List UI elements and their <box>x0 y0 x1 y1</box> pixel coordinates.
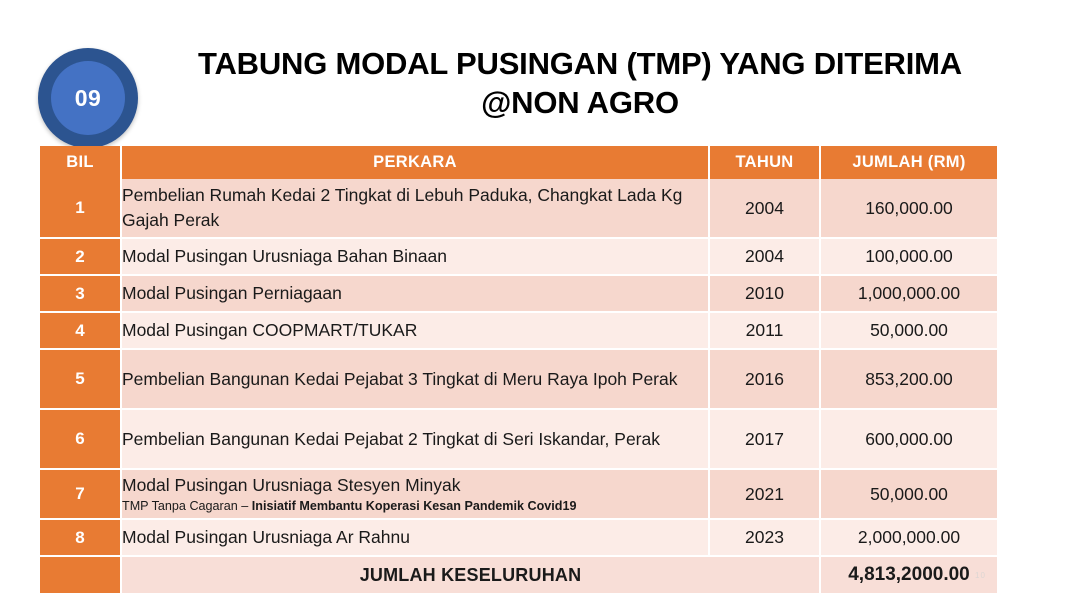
table-body: 1Pembelian Rumah Kedai 2 Tingkat di Lebu… <box>40 179 997 595</box>
perkara-text: Modal Pusingan Urusniaga Stesyen Minyak <box>122 475 461 495</box>
page-number-mark: 10 <box>975 571 986 580</box>
column-header-jumlah: JUMLAH (RM) <box>821 146 997 179</box>
perkara-text: Modal Pusingan Urusniaga Ar Rahnu <box>122 527 410 547</box>
table-row: 1Pembelian Rumah Kedai 2 Tingkat di Lebu… <box>40 179 997 239</box>
cell-bil: 8 <box>40 520 122 557</box>
column-header-tahun: TAHUN <box>710 146 821 179</box>
cell-jumlah: 853,200.00 <box>821 350 997 410</box>
perkara-subnote-bold: Inisiatif Membantu Koperasi Kesan Pandem… <box>252 499 577 513</box>
perkara-text: Modal Pusingan Perniagaan <box>122 283 342 303</box>
cell-bil: 6 <box>40 410 122 470</box>
cell-tahun: 2010 <box>710 276 821 313</box>
slide-header: 09 TABUNG MODAL PUSINGAN (TMP) YANG DITE… <box>0 0 1070 145</box>
table-header: BIL PERKARA TAHUN JUMLAH (RM) <box>40 146 997 179</box>
page-title: TABUNG MODAL PUSINGAN (TMP) YANG DITERIM… <box>160 44 1000 122</box>
cell-tahun: 2004 <box>710 239 821 276</box>
perkara-text: Pembelian Bangunan Kedai Pejabat 3 Tingk… <box>122 369 678 389</box>
cell-tahun: 2017 <box>710 410 821 470</box>
badge-number-label: 09 <box>75 87 102 110</box>
cell-perkara: Pembelian Bangunan Kedai Pejabat 2 Tingk… <box>122 410 710 470</box>
cell-bil: 2 <box>40 239 122 276</box>
cell-jumlah: 50,000.00 <box>821 470 997 520</box>
total-label: JUMLAH KESELURUHAN <box>122 557 821 595</box>
cell-bil: 3 <box>40 276 122 313</box>
table-row: 6Pembelian Bangunan Kedai Pejabat 2 Ting… <box>40 410 997 470</box>
cell-jumlah: 160,000.00 <box>821 179 997 239</box>
table-row: 4Modal Pusingan COOPMART/TUKAR201150,000… <box>40 313 997 350</box>
table-header-row: BIL PERKARA TAHUN JUMLAH (RM) <box>40 146 997 179</box>
cell-tahun: 2004 <box>710 179 821 239</box>
cell-tahun: 2021 <box>710 470 821 520</box>
perkara-text: Pembelian Rumah Kedai 2 Tingkat di Lebuh… <box>122 185 682 230</box>
cell-perkara: Modal Pusingan Perniagaan <box>122 276 710 313</box>
column-header-perkara: PERKARA <box>122 146 710 179</box>
table-row: 5Pembelian Bangunan Kedai Pejabat 3 Ting… <box>40 350 997 410</box>
total-row-empty-cell <box>40 557 122 595</box>
cell-bil: 1 <box>40 179 122 239</box>
cell-perkara: Modal Pusingan Urusniaga Ar Rahnu <box>122 520 710 557</box>
cell-bil: 4 <box>40 313 122 350</box>
table-row: 2Modal Pusingan Urusniaga Bahan Binaan20… <box>40 239 997 276</box>
perkara-text: Modal Pusingan COOPMART/TUKAR <box>122 320 417 340</box>
cell-tahun: 2011 <box>710 313 821 350</box>
table-row: 7Modal Pusingan Urusniaga Stesyen Minyak… <box>40 470 997 520</box>
perkara-text: Modal Pusingan Urusniaga Bahan Binaan <box>122 246 447 266</box>
cell-jumlah: 100,000.00 <box>821 239 997 276</box>
tmp-table-container: BIL PERKARA TAHUN JUMLAH (RM) 1Pembelian… <box>40 146 997 595</box>
cell-tahun: 2023 <box>710 520 821 557</box>
cell-jumlah: 2,000,000.00 <box>821 520 997 557</box>
cell-perkara: Modal Pusingan COOPMART/TUKAR <box>122 313 710 350</box>
table-row: 8Modal Pusingan Urusniaga Ar Rahnu20232,… <box>40 520 997 557</box>
table-total-row: JUMLAH KESELURUHAN4,813,2000.00 <box>40 557 997 595</box>
perkara-text: Pembelian Bangunan Kedai Pejabat 2 Tingk… <box>122 429 660 449</box>
total-value: 4,813,2000.00 <box>821 557 997 595</box>
tmp-table: BIL PERKARA TAHUN JUMLAH (RM) 1Pembelian… <box>40 146 997 595</box>
cell-perkara: Pembelian Bangunan Kedai Pejabat 3 Tingk… <box>122 350 710 410</box>
page-title-line-2: @NON AGRO <box>160 83 1000 122</box>
perkara-subnote-plain: TMP Tanpa Cagaran – <box>122 499 252 513</box>
cell-jumlah: 50,000.00 <box>821 313 997 350</box>
cell-perkara: Modal Pusingan Urusniaga Stesyen MinyakT… <box>122 470 710 520</box>
perkara-subnote: TMP Tanpa Cagaran – Inisiatif Membantu K… <box>122 498 708 515</box>
cell-perkara: Pembelian Rumah Kedai 2 Tingkat di Lebuh… <box>122 179 710 239</box>
column-header-bil: BIL <box>40 146 122 179</box>
cell-bil: 7 <box>40 470 122 520</box>
table-row: 3Modal Pusingan Perniagaan20101,000,000.… <box>40 276 997 313</box>
badge-inner-circle: 09 <box>51 61 125 135</box>
slide-number-badge: 09 <box>38 48 138 148</box>
page-title-line-1: TABUNG MODAL PUSINGAN (TMP) YANG DITERIM… <box>160 44 1000 83</box>
cell-tahun: 2016 <box>710 350 821 410</box>
cell-jumlah: 1,000,000.00 <box>821 276 997 313</box>
cell-jumlah: 600,000.00 <box>821 410 997 470</box>
cell-perkara: Modal Pusingan Urusniaga Bahan Binaan <box>122 239 710 276</box>
cell-bil: 5 <box>40 350 122 410</box>
